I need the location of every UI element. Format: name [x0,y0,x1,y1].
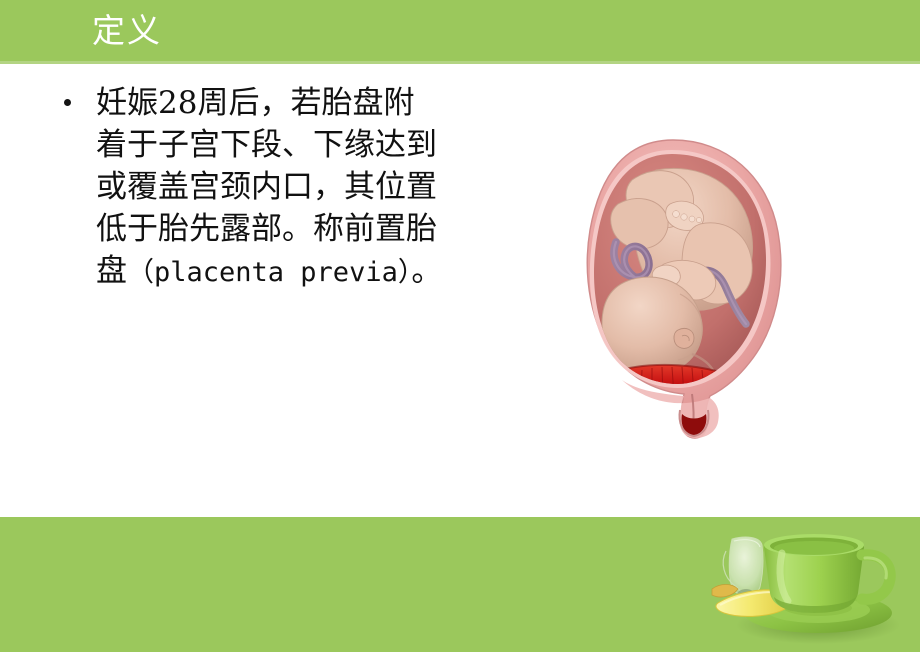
fetus-toe [681,214,687,220]
bullet-dot-icon [64,99,71,106]
placenta-previa-illustration [560,132,804,442]
bullet-text: 妊娠28周后，若胎盘附着于子宫下段、下缘达到或覆盖宫颈内口，其位置低于胎先露部。… [96,82,445,294]
teabag [729,537,763,594]
bullet-text-tail: 。 [411,253,442,289]
content-body: 妊娠28周后，若胎盘附着于子宫下段、下缘达到或覆盖宫颈内口，其位置低于胎先露部。… [55,82,445,294]
page-title: 定义 [92,11,162,51]
fetus-toe [673,211,680,218]
fetus-toe [696,217,701,222]
header-underline-divider [0,61,920,64]
fetus-toe [689,216,695,222]
footer-teacup-decoration [690,517,920,652]
slide: 定义 妊娠28周后，若胎盘附着于子宫下段、下缘达到或覆盖宫颈内口，其位置低于胎先… [0,0,920,652]
bullet-text-latin: （placenta previa） [127,257,411,288]
list-item: 妊娠28周后，若胎盘附着于子宫下段、下缘达到或覆盖宫颈内口，其位置低于胎先露部。… [55,82,445,294]
fetus-ear [674,328,694,348]
teacup-liquid [774,541,854,555]
